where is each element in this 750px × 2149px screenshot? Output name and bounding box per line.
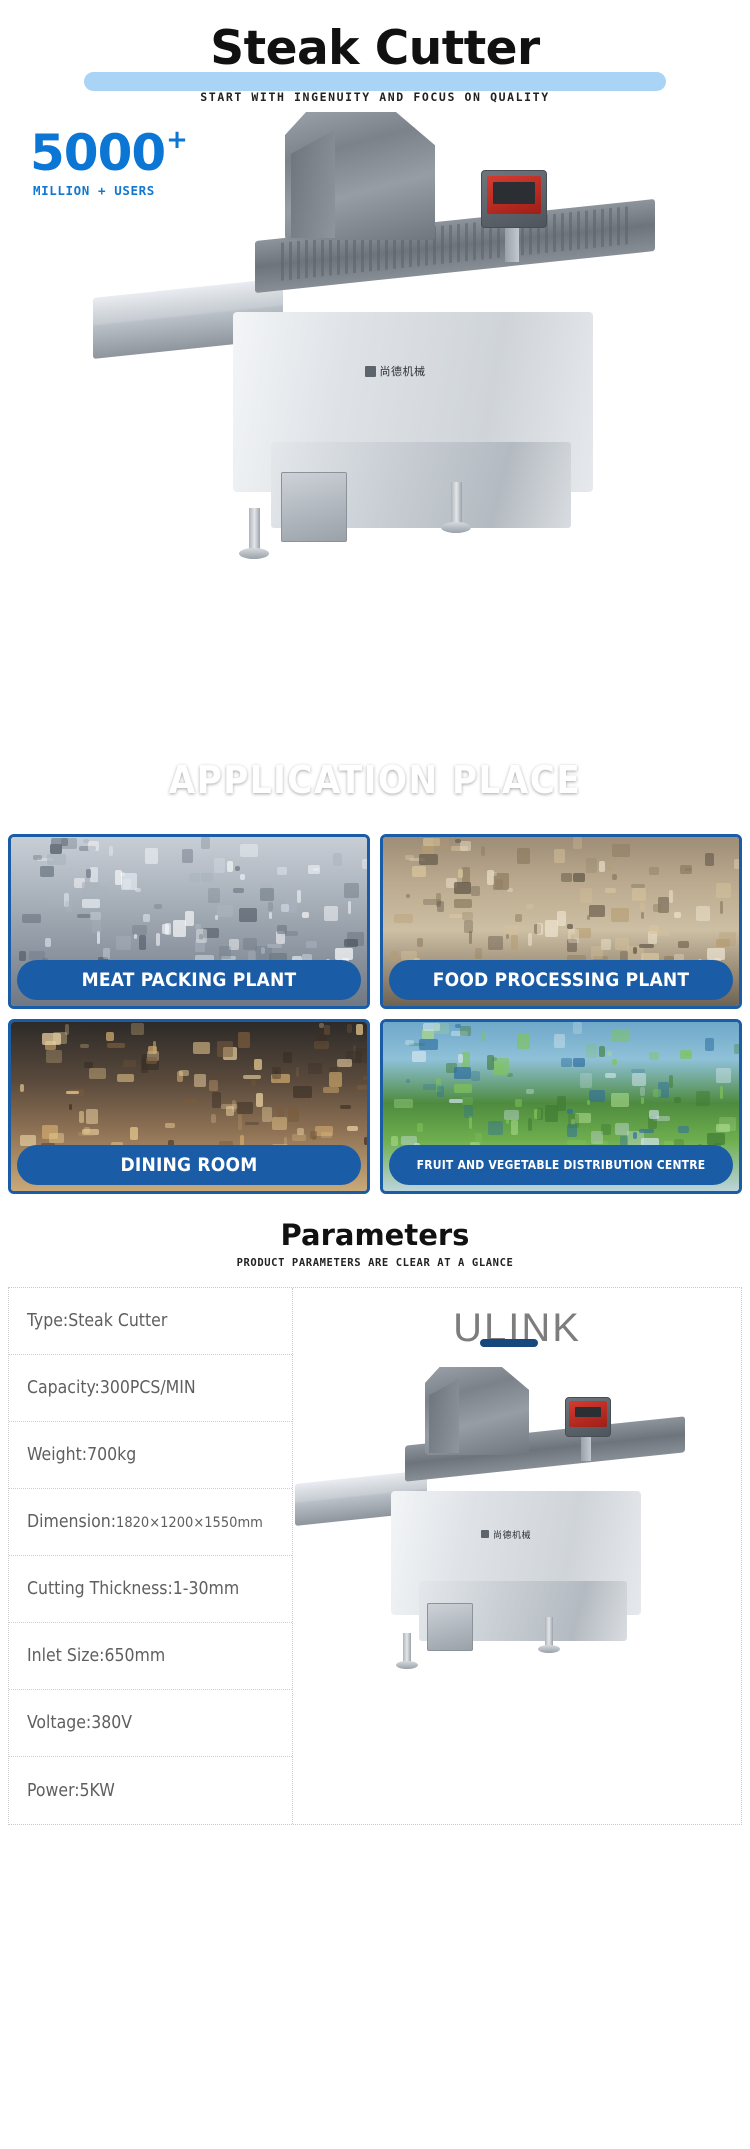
photo-detail (49, 1133, 63, 1143)
photo-detail (208, 888, 219, 903)
photo-detail (90, 912, 101, 920)
deck-slat (609, 208, 612, 246)
brand-logo-mark (365, 366, 376, 377)
photo-detail (260, 888, 274, 901)
photo-detail (123, 1060, 136, 1067)
photo-detail (306, 941, 317, 948)
photo-detail (209, 1080, 217, 1090)
parameter-row: Dimension:1820×1200×1550mm (9, 1489, 292, 1556)
photo-detail (537, 923, 542, 934)
photo-detail (554, 849, 565, 863)
deck-slat (281, 242, 284, 280)
photo-detail (599, 1046, 605, 1057)
photo-detail (131, 1023, 144, 1035)
parameters-brand-panel: ULINK 尚德机械 (293, 1288, 741, 1824)
photo-detail (545, 920, 558, 937)
deck-slat (353, 235, 356, 273)
photo-detail (77, 914, 91, 919)
photo-detail (488, 1121, 503, 1135)
photo-detail (261, 947, 265, 954)
photo-detail (217, 1041, 232, 1057)
photo-detail (78, 1132, 96, 1136)
photo-detail (238, 1032, 250, 1049)
photo-detail (256, 1093, 262, 1107)
deck-slat (625, 206, 628, 244)
photo-detail (243, 938, 257, 950)
photo-detail (460, 841, 472, 851)
application-card[interactable]: DINING ROOM (8, 1019, 370, 1194)
machine-brand-plate-small: 尚德机械 (469, 1527, 543, 1541)
photo-detail (720, 901, 723, 914)
photo-detail (458, 869, 462, 877)
photo-detail (86, 1109, 97, 1124)
deck-slat (345, 236, 348, 274)
photo-detail (649, 925, 660, 935)
photo-detail (217, 905, 233, 917)
photo-detail (219, 946, 231, 959)
deck-slat (569, 212, 572, 250)
photo-detail (362, 859, 370, 869)
photo-detail (605, 888, 615, 893)
photo-detail (324, 1025, 330, 1034)
photo-detail (145, 848, 158, 864)
machine-foot-left (239, 548, 269, 559)
machine-brand-text-small: 尚德机械 (493, 1528, 531, 1541)
photo-detail (277, 867, 287, 874)
deck-slat (321, 238, 324, 276)
photo-detail (406, 1079, 409, 1083)
photo-detail (449, 1099, 463, 1104)
application-card-label: FOOD PROCESSING PLANT (389, 960, 733, 1000)
photo-detail (640, 1087, 645, 1095)
photo-detail (297, 1128, 304, 1135)
parameter-value: 5KW (80, 1781, 115, 1801)
parameter-label: Cutting Thickness: (27, 1579, 173, 1599)
photo-detail (214, 858, 225, 873)
photo-detail (589, 1090, 605, 1102)
photo-detail (65, 901, 72, 912)
photo-detail (183, 1099, 197, 1103)
hmi-touchscreen-small (569, 1401, 607, 1427)
photo-detail (433, 838, 449, 848)
hero-section: Steak Cutter START WITH INGENUITY AND FO… (0, 0, 750, 740)
photo-detail (69, 1104, 72, 1111)
photo-detail (268, 902, 273, 910)
photo-detail (259, 884, 273, 888)
photo-detail (406, 894, 409, 898)
photo-detail (61, 838, 77, 848)
parameter-row: Inlet Size:650mm (9, 1623, 292, 1690)
photo-detail (324, 906, 338, 921)
photo-detail (437, 1086, 444, 1097)
photo-detail (90, 867, 98, 883)
photo-detail (347, 1126, 359, 1131)
photo-detail (607, 1051, 612, 1055)
deck-slat (601, 209, 604, 247)
photo-detail (417, 1123, 423, 1132)
photo-detail (212, 1092, 222, 1108)
photo-detail (716, 939, 729, 947)
steak-cutter-machine-photo-small: 尚德机械 (293, 1365, 741, 1695)
photo-detail (554, 1034, 565, 1048)
photo-detail (193, 1042, 211, 1054)
parameter-value: 1-30mm (173, 1579, 239, 1599)
photo-detail (669, 1075, 673, 1088)
application-card[interactable]: FOOD PROCESSING PLANT (380, 834, 742, 1009)
photo-detail (573, 837, 581, 849)
photo-detail (34, 894, 37, 898)
photo-detail (633, 947, 637, 954)
deck-slat (449, 225, 452, 263)
photo-detail (528, 933, 532, 947)
machine-brand-plate: 尚德机械 (347, 362, 443, 380)
photo-detail (526, 1089, 534, 1094)
photo-detail (391, 1136, 399, 1146)
photo-detail (239, 908, 257, 923)
photo-detail (631, 1069, 645, 1073)
parameters-heading-block: Parameters PRODUCT PARAMETERS ARE CLEAR … (0, 1200, 750, 1273)
photo-detail (568, 929, 579, 944)
parameter-text: Cutting Thickness:1-30mm (27, 1579, 239, 1599)
photo-detail (310, 1131, 318, 1139)
photo-detail (348, 901, 351, 914)
photo-detail (293, 1086, 312, 1098)
photo-detail (455, 839, 461, 843)
parameter-text: Inlet Size:650mm (27, 1646, 165, 1666)
deck-slat (577, 211, 580, 249)
photo-detail (599, 861, 605, 872)
photo-detail (394, 1099, 413, 1108)
parameter-value: 1820×1200×1550mm (116, 1515, 263, 1531)
photo-detail (437, 901, 444, 912)
photo-detail (734, 859, 742, 869)
parameter-row: Voltage:380V (9, 1690, 292, 1757)
photo-detail (612, 874, 617, 880)
photo-detail (340, 1105, 351, 1109)
product-detail-page: Steak Cutter START WITH INGENUITY AND FO… (0, 0, 750, 1825)
application-card-label: MEAT PACKING PLANT (17, 960, 361, 1000)
photo-detail (82, 882, 99, 895)
parameter-label: Dimension: (27, 1512, 116, 1532)
photo-detail (412, 866, 426, 877)
photo-detail (148, 1046, 156, 1054)
photo-detail (419, 1039, 438, 1051)
photo-detail (272, 1117, 287, 1130)
photo-detail (464, 920, 473, 933)
photo-detail (337, 1059, 352, 1067)
photo-detail (66, 1091, 80, 1094)
photo-detail (156, 933, 160, 947)
cutting-chamber (281, 472, 347, 542)
photo-detail (251, 1080, 256, 1086)
photo-detail (107, 1043, 125, 1048)
photo-detail (22, 914, 41, 923)
photo-detail (245, 1122, 259, 1126)
photo-detail (506, 1119, 509, 1123)
photo-detail (82, 899, 100, 908)
photo-detail (454, 1084, 472, 1093)
photo-detail (42, 1033, 61, 1045)
photo-detail (611, 908, 629, 923)
photo-detail (632, 1073, 646, 1086)
photo-detail (419, 854, 438, 866)
parameter-text: Voltage:380V (27, 1713, 132, 1733)
photo-detail (573, 1022, 581, 1034)
photo-detail (455, 1024, 461, 1028)
photo-detail (591, 1131, 603, 1144)
photo-detail (146, 1057, 157, 1064)
photo-detail (233, 888, 243, 893)
photo-detail (537, 1108, 542, 1119)
parameter-row: Weight:700kg (9, 1422, 292, 1489)
photo-detail (460, 1026, 472, 1036)
photo-detail (281, 904, 289, 912)
application-card[interactable]: MEAT PACKING PLANT (8, 834, 370, 1009)
photo-detail (83, 839, 89, 843)
parameters-table: Type:Steak CutterCapacity:300PCS/MINWeig… (9, 1288, 293, 1824)
photo-detail (605, 1073, 615, 1078)
machine-foot-left-small (396, 1661, 418, 1669)
deck-slat (561, 213, 564, 251)
application-banner-title: APPLICATION PLACE (169, 758, 581, 802)
photo-detail (561, 873, 571, 882)
machine-brand-text: 尚德机械 (380, 363, 426, 379)
deck-slat (337, 237, 340, 275)
photo-detail (511, 1120, 518, 1135)
photo-detail (587, 1100, 591, 1105)
deck-slat (457, 224, 460, 262)
photo-detail (475, 1133, 482, 1144)
photo-detail (487, 870, 493, 884)
photo-detail (716, 1124, 729, 1132)
photo-detail (329, 1072, 341, 1087)
photo-detail (211, 1114, 216, 1124)
photo-detail (612, 1059, 617, 1065)
photo-detail (130, 1127, 138, 1140)
parameter-label: Type: (27, 1311, 68, 1331)
photo-detail (73, 1025, 83, 1028)
photo-detail (580, 1073, 591, 1088)
deck-slat (473, 222, 476, 260)
parameters-title: Parameters (0, 1218, 750, 1252)
photo-detail (462, 1097, 473, 1105)
photo-detail (685, 1053, 690, 1056)
photo-detail (462, 1052, 470, 1068)
photo-detail (515, 1099, 522, 1107)
photo-detail (587, 915, 591, 920)
photo-detail (364, 1137, 370, 1145)
photo-detail (314, 1041, 329, 1049)
photo-detail (103, 948, 110, 959)
photo-detail (302, 912, 309, 918)
photo-detail (139, 935, 146, 950)
application-card[interactable]: FRUIT AND VEGETABLE DISTRIBUTION CENTRE (380, 1019, 742, 1194)
photo-detail (475, 948, 482, 959)
photo-detail (117, 1074, 134, 1082)
photo-detail (449, 914, 463, 919)
deck-slat (305, 240, 308, 278)
photo-detail (292, 1134, 306, 1140)
photo-detail (189, 873, 199, 882)
photo-detail (653, 1089, 661, 1097)
parameter-value: 300PCS/MIN (100, 1378, 196, 1398)
parameters-body: Type:Steak CutterCapacity:300PCS/MINWeig… (8, 1287, 742, 1825)
photo-detail (631, 884, 645, 888)
page-title: Steak Cutter (0, 22, 750, 76)
photo-detail (641, 912, 644, 919)
photo-detail (412, 1051, 426, 1062)
photo-detail (720, 1086, 723, 1099)
photo-detail (46, 1050, 62, 1062)
photo-detail (344, 883, 359, 899)
photo-detail (355, 1048, 368, 1063)
photo-detail (561, 1058, 571, 1067)
photo-detail (471, 1071, 480, 1081)
photo-detail (154, 904, 162, 909)
photo-detail (649, 867, 659, 874)
photo-detail (640, 902, 645, 910)
photo-detail (716, 883, 731, 899)
deck-slat (593, 210, 596, 248)
photo-detail (20, 1084, 25, 1091)
deck-slat (585, 210, 588, 248)
photo-detail (394, 914, 413, 923)
photo-detail (696, 906, 710, 921)
photo-detail (405, 855, 413, 860)
hmi-touchscreen (487, 176, 541, 214)
parameter-label: Weight: (27, 1445, 87, 1465)
photo-detail (237, 1102, 252, 1114)
photo-detail (143, 914, 150, 922)
photo-detail (633, 1132, 637, 1139)
photo-detail (591, 946, 603, 959)
steak-cutter-machine-photo: 尚德机械 (85, 112, 655, 532)
parameter-row: Cutting Thickness:1-30mm (9, 1556, 292, 1623)
photo-detail (632, 888, 646, 901)
photo-detail (506, 934, 509, 938)
application-banner: APPLICATION PLACE (0, 740, 750, 822)
photo-detail (267, 944, 282, 948)
parameters-subtitle: PRODUCT PARAMETERS ARE CLEAR AT A GLANCE (0, 1257, 750, 1269)
photo-detail (88, 841, 100, 851)
photo-detail (471, 886, 480, 896)
photo-detail (313, 868, 318, 871)
parameter-text: Power:5KW (27, 1781, 115, 1801)
photo-detail (696, 1091, 710, 1106)
photo-detail (545, 1105, 558, 1122)
photo-detail (363, 1076, 370, 1080)
photo-detail (344, 939, 357, 947)
photo-detail (557, 911, 566, 926)
photo-detail (173, 920, 186, 937)
photo-detail (277, 925, 288, 935)
photo-detail (669, 890, 673, 903)
photo-detail (649, 1052, 659, 1059)
photo-detail (615, 1123, 629, 1135)
photo-detail (639, 944, 654, 948)
photo-detail (288, 1107, 299, 1122)
parameter-text: Capacity:300PCS/MIN (27, 1378, 196, 1398)
parameter-row: Power:5KW (9, 1757, 292, 1824)
photo-detail (45, 938, 51, 947)
photo-detail (462, 912, 473, 920)
photo-detail (333, 853, 342, 866)
photo-detail (612, 844, 631, 857)
photo-detail (215, 915, 219, 920)
photo-detail (40, 866, 54, 877)
photo-detail (615, 938, 629, 950)
photo-detail (65, 1024, 70, 1035)
hero-title-block: Steak Cutter START WITH INGENUITY AND FO… (0, 0, 750, 104)
page-subtitle: START WITH INGENUITY AND FOCUS ON QUALIT… (0, 90, 750, 104)
photo-detail (227, 861, 233, 872)
photo-detail (678, 941, 689, 948)
photo-detail (134, 934, 137, 938)
parameters-section: Parameters PRODUCT PARAMETERS ARE CLEAR … (0, 1200, 750, 1825)
photo-detail (297, 890, 301, 903)
photo-detail (308, 1063, 322, 1074)
brand-logo-mark-small (481, 1530, 489, 1538)
photo-detail (488, 936, 503, 950)
photo-detail (196, 929, 207, 944)
photo-detail (356, 1024, 363, 1035)
parameter-text: Weight:700kg (27, 1445, 136, 1465)
photo-detail (653, 904, 661, 912)
photo-detail (454, 1067, 471, 1080)
photo-detail (323, 1087, 338, 1093)
application-cards-grid: MEAT PACKING PLANT FOOD PROCESSING PLANT… (0, 822, 750, 1200)
photo-detail (458, 1054, 462, 1062)
machine-foot-right-small (538, 1645, 560, 1653)
photo-detail (405, 1040, 413, 1045)
photo-detail (89, 1068, 106, 1080)
photo-detail (586, 858, 597, 873)
photo-detail (106, 1032, 114, 1041)
deck-slat (297, 241, 300, 279)
deck-slat (553, 214, 556, 252)
photo-detail (417, 938, 423, 947)
photo-detail (612, 1029, 631, 1042)
application-card-label: FRUIT AND VEGETABLE DISTRIBUTION CENTRE (389, 1145, 733, 1185)
photo-detail (678, 1126, 689, 1133)
photo-detail (86, 869, 90, 877)
photo-detail (269, 912, 272, 919)
photo-detail (573, 873, 585, 881)
photo-detail (685, 868, 690, 871)
photo-detail (80, 1044, 89, 1048)
photo-detail (481, 1031, 485, 1042)
photo-detail (454, 882, 471, 895)
photo-detail (115, 870, 121, 884)
photo-detail (586, 1043, 597, 1058)
photo-detail (254, 1059, 262, 1071)
photo-detail (607, 866, 612, 870)
photo-detail (639, 1129, 654, 1133)
photo-detail (182, 849, 193, 863)
photo-detail (433, 1023, 449, 1033)
photo-detail (674, 912, 681, 918)
application-card-label: DINING ROOM (17, 1145, 361, 1185)
photo-detail (11, 1100, 17, 1108)
photo-detail (734, 1044, 742, 1054)
photo-detail (511, 935, 518, 950)
photo-detail (185, 911, 194, 926)
photo-detail (296, 1067, 300, 1077)
parameter-value: 650mm (105, 1646, 166, 1666)
ulink-logo: ULINK (293, 1306, 741, 1347)
parameter-text: Type:Steak Cutter (27, 1311, 167, 1331)
cutting-chamber-small (427, 1603, 473, 1651)
